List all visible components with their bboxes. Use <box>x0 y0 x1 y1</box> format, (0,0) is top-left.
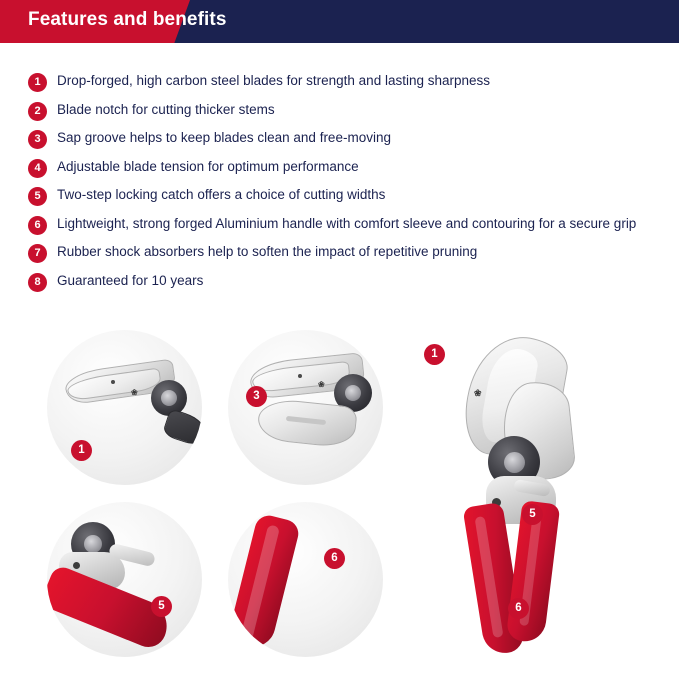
page-title: Features and benefits <box>28 9 226 31</box>
list-item-number: 6 <box>28 216 47 235</box>
list-item: 5 Two-step locking catch offers a choice… <box>28 186 648 206</box>
feature-list: 1 Drop-forged, high carbon steel blades … <box>28 72 648 300</box>
list-item-number: 5 <box>28 187 47 206</box>
brand-mark: ❀ <box>318 380 324 389</box>
blade-rivet <box>111 380 115 384</box>
list-item-label: Drop-forged, high carbon steel blades fo… <box>57 72 490 90</box>
product-image-panel: ❀ 1 ❀ 3 5 6 ❀ <box>0 318 679 679</box>
list-item-label: Blade notch for cutting thicker stems <box>57 101 275 119</box>
list-item: 6 Lightweight, strong forged Aluminium h… <box>28 215 648 235</box>
pivot-ring <box>84 535 102 553</box>
pivot-ring <box>161 390 177 406</box>
pivot-ring <box>345 385 361 401</box>
list-item: 7 Rubber shock absorbers help to soften … <box>28 243 648 263</box>
sap-groove-detail-photo: ❀ 3 <box>228 330 383 485</box>
full-product-photo: ❀ 1 5 6 <box>430 326 660 671</box>
list-item-number: 8 <box>28 273 47 292</box>
product-callout-6: 6 <box>508 598 529 619</box>
list-item: 3 Sap groove helps to keep blades clean … <box>28 129 648 149</box>
list-item-number: 7 <box>28 244 47 263</box>
photo-callout-3: 3 <box>246 386 267 407</box>
list-item-label: Two-step locking catch offers a choice o… <box>57 186 385 204</box>
list-item-label: Adjustable blade tension for optimum per… <box>57 158 359 176</box>
blade-rivet <box>298 374 302 378</box>
locking-catch-detail-photo: 5 <box>47 502 202 657</box>
list-item-label: Rubber shock absorbers help to soften th… <box>57 243 477 261</box>
list-item: 1 Drop-forged, high carbon steel blades … <box>28 72 648 92</box>
photo-callout-6: 6 <box>324 548 345 569</box>
list-item-label: Sap groove helps to keep blades clean an… <box>57 129 391 147</box>
photo-callout-1: 1 <box>71 440 92 461</box>
blade-holder <box>162 408 202 448</box>
list-item-label: Guaranteed for 10 years <box>57 272 203 290</box>
page-header: Features and benefits <box>0 0 679 43</box>
list-item: 8 Guaranteed for 10 years <box>28 272 648 292</box>
product-callout-1: 1 <box>424 344 445 365</box>
photo-callout-5: 5 <box>151 596 172 617</box>
catch-rivet <box>73 562 80 569</box>
list-item-number: 3 <box>28 130 47 149</box>
product-callout-5: 5 <box>522 504 543 525</box>
brand-mark: ❀ <box>474 388 481 399</box>
brand-mark: ❀ <box>131 388 137 397</box>
list-item-label: Lightweight, strong forged Aluminium han… <box>57 215 636 233</box>
blade-notch-detail-photo: ❀ 1 <box>47 330 202 485</box>
list-item: 4 Adjustable blade tension for optimum p… <box>28 158 648 178</box>
list-item-number: 4 <box>28 159 47 178</box>
pivot-ring <box>504 452 525 473</box>
handle-grip-detail-photo: 6 <box>228 502 383 657</box>
list-item-number: 1 <box>28 73 47 92</box>
list-item-number: 2 <box>28 102 47 121</box>
list-item: 2 Blade notch for cutting thicker stems <box>28 101 648 121</box>
